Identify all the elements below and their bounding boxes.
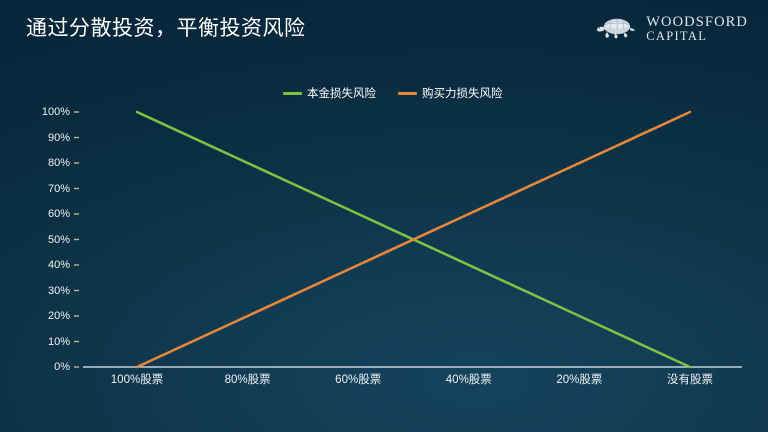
- x-axis-label: 没有股票: [667, 371, 713, 387]
- x-axis-label: 80%股票: [225, 371, 271, 387]
- x-axis-label: 60%股票: [335, 371, 381, 387]
- x-axis-label: 20%股票: [556, 371, 602, 387]
- x-axis-label: 40%股票: [446, 371, 492, 387]
- slide-canvas: 通过分散投资，平衡投资风险: [0, 0, 768, 432]
- x-axis-label: 100%股票: [111, 371, 163, 387]
- x-axis-labels: 100%股票80%股票60%股票40%股票20%股票没有股票: [0, 0, 768, 432]
